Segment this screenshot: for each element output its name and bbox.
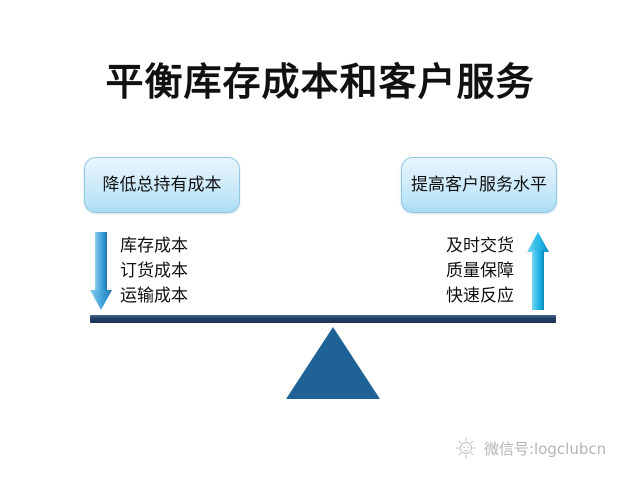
list-item: 及时交货 — [446, 234, 514, 259]
arrow-up-icon — [527, 232, 549, 310]
sun-face-icon — [455, 437, 477, 459]
list-item: 运输成本 — [120, 284, 188, 309]
list-item: 库存成本 — [120, 234, 188, 259]
balance-beam — [90, 315, 556, 323]
list-item: 快速反应 — [446, 284, 514, 309]
arrow-down-icon — [90, 232, 112, 310]
fulcrum-triangle-icon — [286, 327, 380, 399]
page-title: 平衡库存成本和客户服务 — [0, 58, 640, 106]
right-items-list: 及时交货 质量保障 快速反应 — [446, 234, 514, 309]
left-objective-label: 降低总持有成本 — [103, 177, 222, 194]
right-objective-box[interactable]: 提高客户服务水平 — [401, 157, 557, 213]
watermark: 微信号:logclubcn — [455, 437, 606, 459]
watermark-text: 微信号:logclubcn — [484, 438, 606, 459]
slide-canvas: 平衡库存成本和客户服务 降低总持有成本 库存成本 订货成本 运输成本 提高客户服… — [0, 0, 640, 480]
list-item: 质量保障 — [446, 259, 514, 284]
left-objective-box[interactable]: 降低总持有成本 — [84, 157, 240, 213]
left-items-list: 库存成本 订货成本 运输成本 — [120, 234, 188, 309]
list-item: 订货成本 — [120, 259, 188, 284]
right-objective-label: 提高客户服务水平 — [411, 177, 547, 194]
